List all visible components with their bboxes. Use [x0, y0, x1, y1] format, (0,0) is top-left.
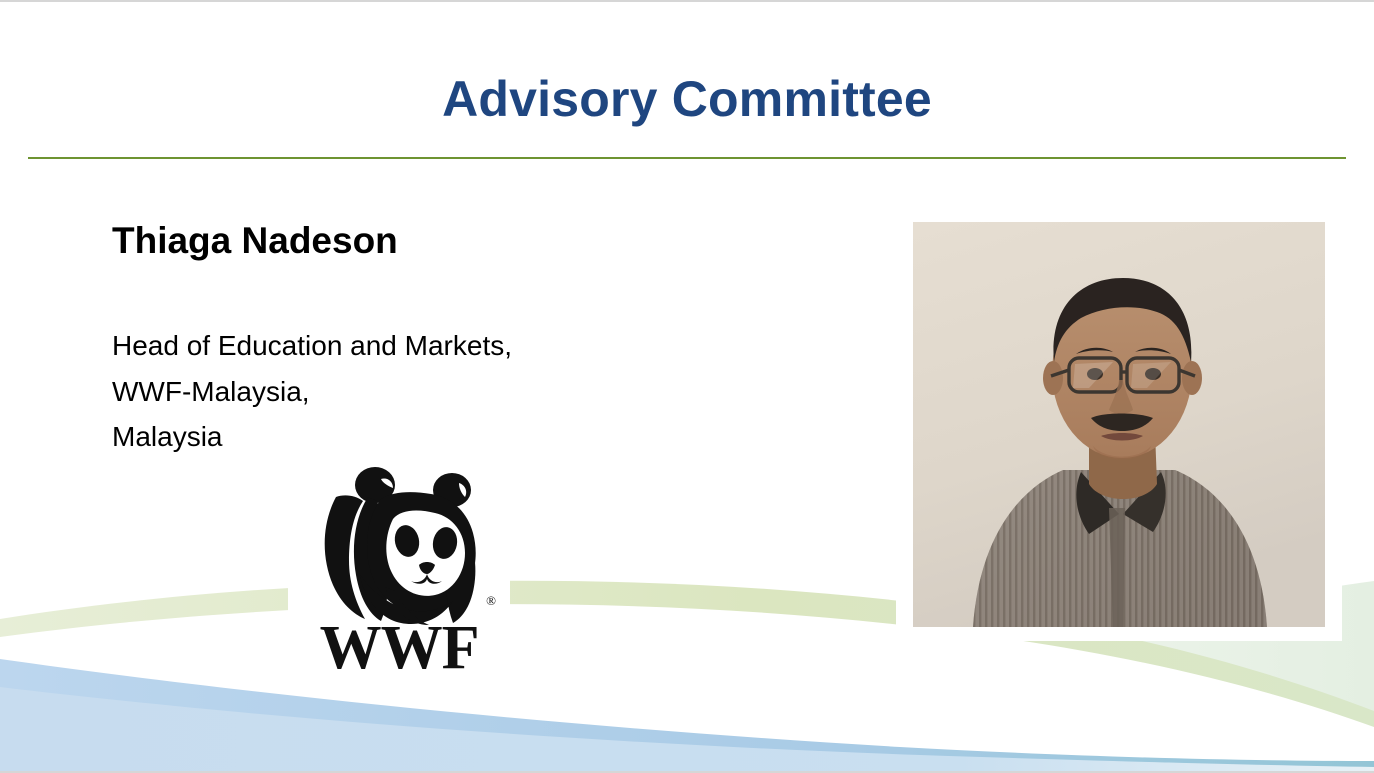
- wwf-wordmark: WWF: [288, 617, 510, 679]
- person-role-line-2: WWF-Malaysia,: [112, 369, 732, 414]
- person-role-lines: Head of Education and Markets, WWF-Malay…: [112, 323, 732, 459]
- title-block: Advisory Committee: [0, 74, 1374, 124]
- person-role-line-1: Head of Education and Markets,: [112, 323, 732, 368]
- page-title: Advisory Committee: [0, 74, 1374, 124]
- person-role-line-3: Malaysia: [112, 414, 732, 459]
- person-name: Thiaga Nadeson: [112, 220, 732, 261]
- title-divider-rule: [28, 157, 1346, 159]
- slide-canvas: Advisory Committee Thiaga Nadeson Head o…: [0, 0, 1374, 773]
- panda-icon: [288, 461, 510, 629]
- portrait-frame: [896, 207, 1342, 641]
- wwf-logo: ® WWF: [288, 457, 510, 685]
- registered-trademark-icon: ®: [486, 593, 496, 609]
- avatar: [913, 222, 1325, 627]
- person-info-block: Thiaga Nadeson Head of Education and Mar…: [112, 220, 732, 460]
